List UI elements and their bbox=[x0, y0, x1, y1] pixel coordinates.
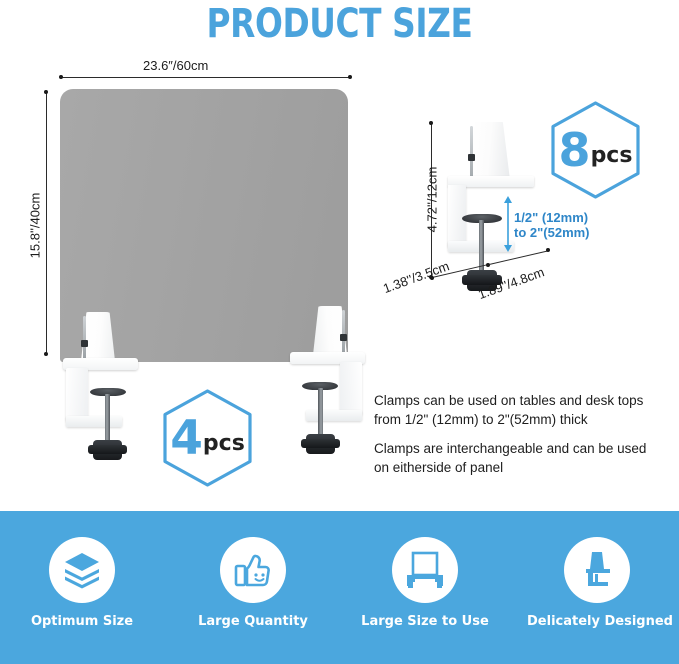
dim-endpoint-dot bbox=[44, 90, 48, 94]
feature-large-size-to-use: Large Size to Use bbox=[355, 537, 495, 629]
thickness-note-line1: 1/2" (12mm) bbox=[514, 210, 588, 225]
feature-bar: Optimum Size Large Quantity bbox=[0, 511, 679, 664]
clamp-knob bbox=[93, 440, 122, 460]
description-paragraph-2-line-2: on eitherside of panel bbox=[374, 459, 503, 477]
clamp-knob bbox=[306, 434, 335, 454]
badge-four-pcs: 4 pcs bbox=[160, 388, 255, 488]
description-paragraph-2-line-1: Clamps are interchangeable and can be us… bbox=[374, 440, 646, 458]
layers-icon bbox=[62, 551, 102, 589]
dim-endpoint-dot bbox=[348, 75, 352, 79]
feature-large-quantity: Large Quantity bbox=[183, 537, 323, 629]
clamp-body bbox=[66, 368, 88, 422]
clamp-screw-shaft bbox=[105, 394, 110, 446]
feature-label: Optimum Size bbox=[12, 614, 152, 629]
detail-clamp-slot bbox=[470, 126, 473, 178]
feature-icon-circle bbox=[564, 537, 630, 603]
page-title: PRODUCT SIZE bbox=[61, 2, 618, 46]
clamp-icon bbox=[578, 550, 616, 590]
clamp-holder bbox=[81, 312, 115, 361]
panel-clamps-icon bbox=[403, 550, 447, 590]
detail-clamp-holder bbox=[468, 122, 510, 180]
feature-icon-circle bbox=[49, 537, 115, 603]
feature-label: Delicately Designed bbox=[527, 614, 667, 629]
panel-width-label: 23.6″/60cm bbox=[143, 58, 208, 73]
clamp-holder-slot bbox=[83, 316, 86, 360]
panel-clamp-left bbox=[63, 312, 143, 462]
badge-number: 4 bbox=[170, 415, 203, 462]
clamp-holder-nub bbox=[81, 340, 88, 347]
feature-icon-circle bbox=[392, 537, 458, 603]
detail-clamp-screw-shaft bbox=[479, 220, 484, 276]
thumbs-up-icon bbox=[233, 551, 273, 589]
panel-clamp-right bbox=[285, 306, 365, 456]
feature-label: Large Quantity bbox=[183, 614, 323, 629]
dim-endpoint-dot bbox=[429, 121, 433, 125]
feature-label: Large Size to Use bbox=[355, 614, 495, 629]
infographic-canvas: PRODUCT SIZE 23.6″/60cm 15.8''/40cm bbox=[0, 0, 679, 664]
dim-endpoint-dot bbox=[44, 352, 48, 356]
panel-height-dimension-line bbox=[46, 92, 47, 354]
clamp-foot bbox=[306, 410, 362, 421]
clamp-holder-nub bbox=[340, 334, 347, 341]
description-paragraph-1-line-1: Clamps can be used on tables and desk to… bbox=[374, 392, 643, 410]
clamp-holder-slot bbox=[342, 310, 345, 354]
thickness-note-line2: to 2"(52mm) bbox=[514, 225, 590, 240]
clamp-screw-shaft bbox=[318, 388, 323, 440]
description-paragraph-1-line-2: from 1/2" (12mm) to 2"(52mm) thick bbox=[374, 411, 588, 429]
panel-height-label: 15.8''/40cm bbox=[28, 171, 43, 281]
badge-unit: pcs bbox=[203, 421, 245, 455]
panel-width-dimension-line bbox=[61, 77, 350, 78]
detail-clamp-nub bbox=[468, 154, 475, 161]
clamp-height-label: 4.72''/12cm bbox=[425, 150, 440, 250]
badge-unit: pcs bbox=[591, 133, 633, 167]
feature-icon-circle bbox=[220, 537, 286, 603]
dim-endpoint-dot bbox=[546, 248, 550, 252]
badge-text: 4 pcs bbox=[160, 388, 255, 488]
clamp-foot bbox=[66, 416, 122, 427]
feature-optimum-size: Optimum Size bbox=[12, 537, 152, 629]
feature-delicately-designed: Delicately Designed bbox=[527, 537, 667, 629]
clamp-body bbox=[340, 362, 362, 416]
dim-endpoint-dot bbox=[59, 75, 63, 79]
